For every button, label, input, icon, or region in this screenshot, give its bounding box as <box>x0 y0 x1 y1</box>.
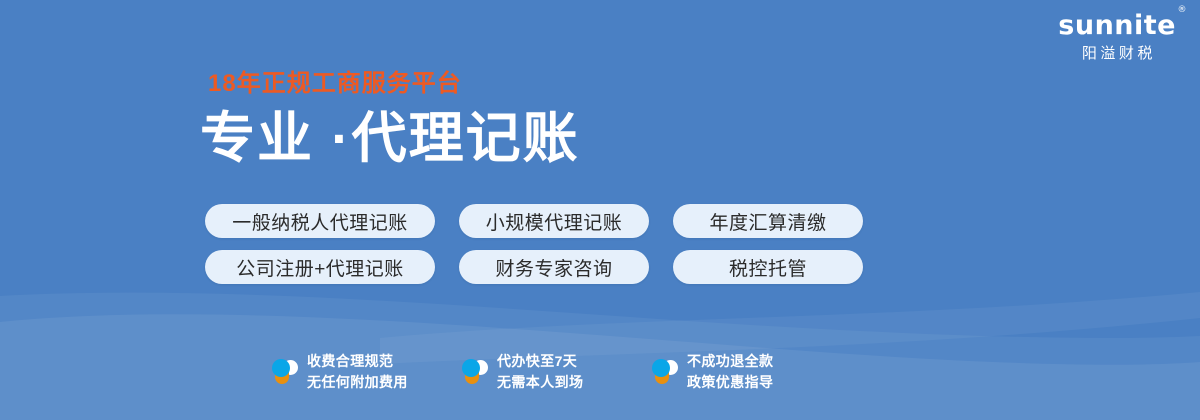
service-pill-company-registration[interactable]: 公司注册+代理记账 <box>205 250 435 284</box>
feature-line-1: 代办快至7天 <box>497 351 583 373</box>
dot-shape <box>462 359 480 377</box>
hero-eyebrow: 18年正规工商服务平台 <box>208 72 580 96</box>
registered-trademark-icon: ® <box>1178 6 1188 15</box>
feature-text-guarantee: 不成功退全款 政策优惠指导 <box>687 351 773 394</box>
feature-line-2: 政策优惠指导 <box>687 372 773 394</box>
feature-line-2: 无任何附加费用 <box>307 372 408 394</box>
service-pill-tax-control-hosting[interactable]: 税控托管 <box>673 250 863 284</box>
feature-item-speed: 代办快至7天 无需本人到场 <box>462 351 652 394</box>
service-pill-finance-consulting[interactable]: 财务专家咨询 <box>459 250 649 284</box>
logo-wordmark-text: sunnite <box>1058 10 1176 41</box>
service-pill-general-taxpayer[interactable]: 一般纳税人代理记账 <box>205 204 435 238</box>
page-title: 专业 ·代理记账 <box>200 110 580 168</box>
promo-banner: sunnite ® 阳溢财税 18年正规工商服务平台 专业 ·代理记账 一般纳税… <box>0 0 1200 420</box>
moon-drop-icon <box>272 358 298 387</box>
feature-line-1: 不成功退全款 <box>687 351 773 373</box>
feature-list: 收费合理规范 无任何附加费用 代办快至7天 无需本人到场 不成功退全款 <box>272 351 842 394</box>
feature-text-speed: 代办快至7天 无需本人到场 <box>497 351 583 394</box>
dot-shape <box>652 359 670 377</box>
service-pill-small-scale[interactable]: 小规模代理记账 <box>459 204 649 238</box>
feature-line-1: 收费合理规范 <box>307 351 408 373</box>
service-pill-annual-settlement[interactable]: 年度汇算清缴 <box>673 204 863 238</box>
logo-wordmark: sunnite ® <box>1058 12 1176 39</box>
brand-logo[interactable]: sunnite ® 阳溢财税 <box>1058 12 1176 61</box>
dot-shape <box>272 359 290 377</box>
moon-drop-icon <box>462 358 488 387</box>
feature-item-guarantee: 不成功退全款 政策优惠指导 <box>652 351 842 394</box>
moon-drop-icon <box>652 358 678 387</box>
feature-text-pricing: 收费合理规范 无任何附加费用 <box>307 351 408 394</box>
logo-chinese-name: 阳溢财税 <box>1058 46 1176 61</box>
hero-copy: 18年正规工商服务平台 专业 ·代理记账 <box>200 72 580 168</box>
feature-line-2: 无需本人到场 <box>497 372 583 394</box>
feature-item-pricing: 收费合理规范 无任何附加费用 <box>272 351 462 394</box>
service-pill-grid: 一般纳税人代理记账 小规模代理记账 年度汇算清缴 公司注册+代理记账 财务专家咨… <box>205 204 863 284</box>
